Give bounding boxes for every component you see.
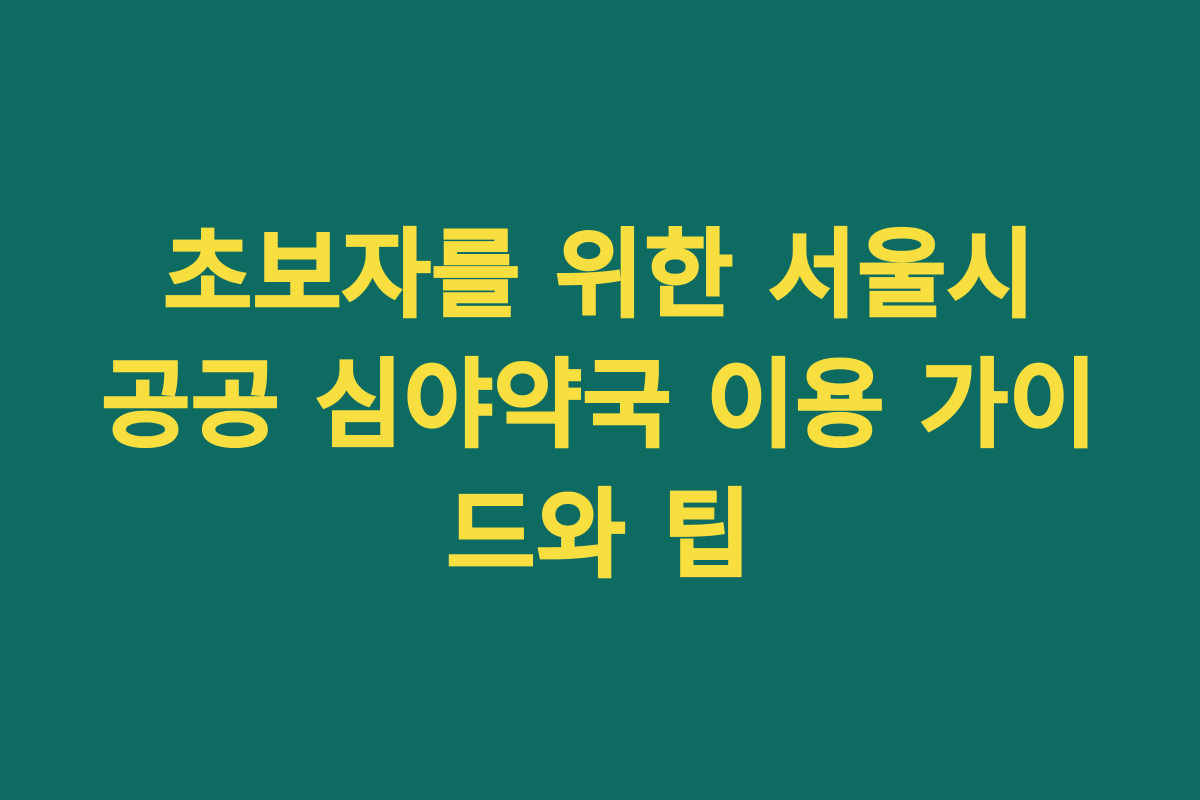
- title-line-3: 드와 팁: [60, 470, 1140, 600]
- page-title: 초보자를 위한 서울시 공공 심야약국 이용 가이 드와 팁: [60, 210, 1140, 600]
- title-line-2: 공공 심야약국 이용 가이: [60, 340, 1140, 470]
- title-line-1: 초보자를 위한 서울시: [60, 210, 1140, 340]
- banner-canvas: 초보자를 위한 서울시 공공 심야약국 이용 가이 드와 팁: [0, 0, 1200, 800]
